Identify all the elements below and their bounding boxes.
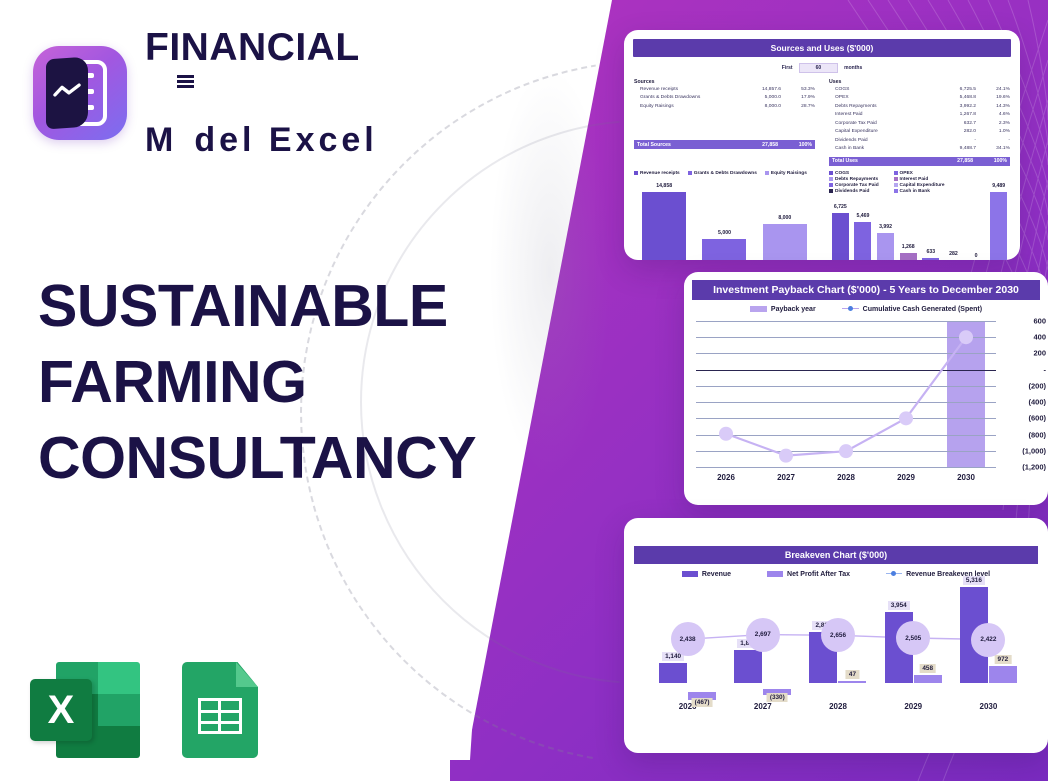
net-profit-value: 458 xyxy=(919,664,936,673)
revenue-value: 3,954 xyxy=(888,601,910,610)
financial-model-logo-icon xyxy=(33,46,127,140)
payback-x-axis: 20262027202820292030 xyxy=(696,473,996,482)
bar: 5,000 xyxy=(702,239,746,260)
breakeven-plot: 1,140(467)2,4381,848(330)2,6972,814472,6… xyxy=(650,584,1026,694)
net-profit-bar: (330) xyxy=(763,689,791,695)
poster-canvas: FINANCIAL Mdel Excel SUSTAINABLE FARMING… xyxy=(0,0,1048,781)
brand-line-2-post: del Excel xyxy=(194,121,377,159)
row-label: Debts Repayments xyxy=(829,103,934,111)
sources-bar-chart: Revenue receiptsGrants & Debts Drawdowns… xyxy=(634,171,815,261)
payback-title: Investment Payback Chart ($'000) - 5 Yea… xyxy=(692,280,1040,300)
bar-label: 14,858 xyxy=(656,183,672,189)
bar: 6,725 xyxy=(832,213,849,260)
page-title: SUSTAINABLE FARMING CONSULTANCY xyxy=(38,268,476,496)
gridline xyxy=(696,467,996,468)
y-tick-label: 400 xyxy=(1033,333,1046,342)
total-pct: 100% xyxy=(973,158,1010,164)
table-row: Equity Raisings 8,000.0 28.7% xyxy=(634,103,815,111)
brand-logo: FINANCIAL Mdel Excel xyxy=(33,28,378,157)
breakeven-node: 2,505 xyxy=(896,621,930,655)
bar: 9,489 xyxy=(990,192,1007,260)
bar-label: 1,268 xyxy=(902,244,915,250)
breakeven-node: 2,422 xyxy=(971,623,1005,657)
bar-label: 8,000 xyxy=(778,215,791,221)
uses-bar-chart: COGSOPEXDebts RepaymentsInterest PaidCor… xyxy=(829,171,1010,261)
months-suffix-label: months xyxy=(844,65,862,71)
uses-total-row: Total Uses 27,858 100% xyxy=(829,157,1010,166)
brand-line-2-pre: M xyxy=(145,121,177,159)
bar: 14,858 xyxy=(642,192,686,260)
bar-label: 633 xyxy=(926,249,935,255)
net-profit-bar: (467) xyxy=(688,692,716,700)
row-value: 1,267.8 xyxy=(934,111,976,119)
legend-item-cumulative-cash: Cumulative Cash Generated (Spent) xyxy=(842,306,982,313)
net-profit-bar: 47 xyxy=(838,681,866,683)
row-label: Corporate Tax Paid xyxy=(829,120,934,128)
row-label: Equity Raisings xyxy=(634,103,739,111)
row-pct: 17.9% xyxy=(781,94,815,102)
headline-line-3: CONSULTANCY xyxy=(38,420,476,496)
breakeven-panel: Breakeven Chart ($'000) Revenue Net Prof… xyxy=(624,518,1048,753)
table-row: Dividends Paid - - xyxy=(829,137,1010,145)
sources-header: Sources xyxy=(634,79,815,85)
row-label: Dividends Paid xyxy=(829,137,934,145)
x-tick-label: 2030 xyxy=(951,702,1026,711)
y-tick-label: (1,200) xyxy=(1022,463,1046,472)
y-tick-label: (1,000) xyxy=(1022,446,1046,455)
payback-line-series xyxy=(696,321,996,467)
row-label: Revenue receipts xyxy=(634,86,739,94)
sources-and-uses-panel: Sources and Uses ($'000) First 60 months… xyxy=(624,30,1020,260)
y-tick-label: 600 xyxy=(1033,317,1046,326)
table-row: Capital Expenditure 282.0 1.0% xyxy=(829,128,1010,136)
x-tick-label: 2028 xyxy=(800,702,875,711)
sources-uses-title: Sources and Uses ($'000) xyxy=(633,39,1011,57)
legend-label: COGS xyxy=(835,171,849,176)
legend-item: COGS xyxy=(829,171,888,176)
legend-label: Debts Repayments xyxy=(835,177,878,182)
y-tick-label: (600) xyxy=(1028,414,1046,423)
legend-label: OPEX xyxy=(900,171,913,176)
revenue-bar: 1,848 xyxy=(734,650,762,683)
uses-header: Uses xyxy=(829,79,1010,85)
payback-legend: Payback year Cumulative Cash Generated (… xyxy=(684,306,1048,313)
brand-line-1: FINANCIAL xyxy=(145,28,378,67)
legend-item: OPEX xyxy=(894,171,953,176)
bar-label: 3,992 xyxy=(879,224,892,230)
net-profit-bar: 458 xyxy=(914,675,942,683)
table-row: COGS 6,725.5 24.1% xyxy=(829,86,1010,94)
row-value: 5,000.0 xyxy=(739,94,781,102)
row-pct: 1.0% xyxy=(976,128,1010,136)
sources-bars: 14,8585,0008,000 xyxy=(634,183,815,261)
uses-table: Uses COGS 6,725.5 24.1% OPEX 5,468.8 19.… xyxy=(829,79,1010,166)
x-tick-label: 2029 xyxy=(876,702,951,711)
y-tick-label: 200 xyxy=(1033,349,1046,358)
breakeven-title: Breakeven Chart ($'000) xyxy=(634,546,1038,564)
sources-total-row: Total Sources 27,858 100% xyxy=(634,140,815,149)
row-pct: 2.3% xyxy=(976,120,1010,128)
brand-line-2: Mdel Excel xyxy=(145,73,378,157)
sources-table: Sources Revenue receipts 14,857.6 53.3% … xyxy=(634,79,815,166)
legend-item: Grants & Debts Drawdowns xyxy=(688,171,757,176)
revenue-value: 5,316 xyxy=(963,576,985,585)
row-pct: 34.1% xyxy=(976,145,1010,153)
excel-x-glyph: X xyxy=(30,679,92,741)
x-tick-label: 2027 xyxy=(725,702,800,711)
legend-label: Payback year xyxy=(771,306,816,313)
headline-line-1: SUSTAINABLE xyxy=(38,268,476,344)
uses-bars: 6,7255,4693,9921,26863328209,489 xyxy=(829,183,1010,261)
legend-label: Net Profit After Tax xyxy=(787,571,850,578)
row-label: Interest Paid xyxy=(829,111,934,119)
row-pct: 19.6% xyxy=(976,94,1010,102)
total-pct: 100% xyxy=(778,142,815,148)
brand-wordmark: FINANCIAL Mdel Excel xyxy=(145,28,378,157)
legend-label: Revenue xyxy=(702,571,731,578)
google-sheets-icon xyxy=(182,662,258,758)
months-input[interactable]: 60 xyxy=(799,63,839,73)
bar-label: 5,469 xyxy=(856,213,869,219)
row-pct: 24.1% xyxy=(976,86,1010,94)
bar: 3,992 xyxy=(877,233,894,260)
breakeven-node: 2,656 xyxy=(821,618,855,652)
y-tick-label: (400) xyxy=(1028,398,1046,407)
row-value: 6,725.5 xyxy=(934,86,976,94)
row-value: 3,992.2 xyxy=(934,103,976,111)
row-label: OPEX xyxy=(829,94,934,102)
breakeven-node: 2,697 xyxy=(746,618,780,652)
row-pct: 14.3% xyxy=(976,103,1010,111)
row-value: 8,000.0 xyxy=(739,103,781,111)
row-label: COGS xyxy=(829,86,934,94)
compatibility-icons: X xyxy=(30,662,258,758)
legend-item: Revenue receipts xyxy=(634,171,680,176)
legend-label: Revenue receipts xyxy=(640,171,680,176)
brand-hamburger-icon xyxy=(177,73,194,153)
investment-payback-panel: Investment Payback Chart ($'000) - 5 Yea… xyxy=(684,272,1048,505)
total-label: Total Uses xyxy=(829,158,931,164)
net-profit-bar: 972 xyxy=(989,666,1017,684)
row-value: 14,857.6 xyxy=(739,86,781,94)
x-tick-label: 2027 xyxy=(756,473,816,482)
legend-item: Debts Repayments xyxy=(829,177,888,182)
row-value: - xyxy=(934,137,976,145)
y-tick-label: (200) xyxy=(1028,381,1046,390)
row-pct: - xyxy=(976,137,1010,145)
bar: 8,000 xyxy=(763,224,807,260)
legend-label: Cumulative Cash Generated (Spent) xyxy=(863,306,982,313)
bar: 1,268 xyxy=(900,253,917,260)
total-value: 27,858 xyxy=(931,158,973,164)
row-pct: 28.7% xyxy=(781,103,815,111)
legend-item-revenue: Revenue xyxy=(682,571,731,578)
total-label: Total Sources xyxy=(634,142,736,148)
table-row: Debts Repayments 3,992.2 14.3% xyxy=(829,103,1010,111)
legend-label: Grants & Debts Drawdowns xyxy=(694,171,757,176)
months-prefix-label: First xyxy=(782,65,793,71)
table-row: Revenue receipts 14,857.6 53.3% xyxy=(634,86,815,94)
net-profit-value: 47 xyxy=(846,670,859,679)
microsoft-excel-icon: X xyxy=(30,662,140,758)
bar-label: 5,000 xyxy=(718,230,731,236)
payback-y-axis: 600400200-(200)(400)(600)(800)(1,000)(1,… xyxy=(998,321,1046,467)
legend-item: Equity Raisings xyxy=(765,171,807,176)
row-label: Capital Expenditure xyxy=(829,128,934,136)
headline-line-2: FARMING xyxy=(38,344,476,420)
bar-label: 9,489 xyxy=(992,183,1005,189)
table-row: Cash in Bank 9,488.7 34.1% xyxy=(829,145,1010,153)
bar-label: 0 xyxy=(975,253,978,259)
x-tick-label: 2028 xyxy=(816,473,876,482)
legend-item: Interest Paid xyxy=(894,177,953,182)
bar-label: 282 xyxy=(949,251,958,257)
table-row: OPEX 5,468.8 19.6% xyxy=(829,94,1010,102)
months-input-row: First 60 months xyxy=(624,63,1020,73)
x-tick-label: 2029 xyxy=(876,473,936,482)
y-tick-label: (800) xyxy=(1028,430,1046,439)
sources-legend: Revenue receiptsGrants & Debts Drawdowns… xyxy=(634,171,815,176)
row-label: Cash in Bank xyxy=(829,145,934,153)
bar-label: 6,725 xyxy=(834,204,847,210)
net-profit-value: 972 xyxy=(995,655,1012,664)
net-profit-value: (467) xyxy=(692,698,713,707)
table-row: Interest Paid 1,267.8 4.6% xyxy=(829,111,1010,119)
total-value: 27,858 xyxy=(736,142,778,148)
x-tick-label: 2026 xyxy=(650,702,725,711)
legend-label: Equity Raisings xyxy=(771,171,807,176)
net-profit-value: (330) xyxy=(767,693,788,702)
row-label: Grants & Debts Drawdowns xyxy=(634,94,739,102)
table-row: Corporate Tax Paid 632.7 2.3% xyxy=(829,120,1010,128)
row-value: 632.7 xyxy=(934,120,976,128)
legend-item-net-profit: Net Profit After Tax xyxy=(767,571,850,578)
legend-item-payback-year: Payback year xyxy=(750,306,816,313)
breakeven-node: 2,438 xyxy=(671,622,705,656)
y-tick-label: - xyxy=(1044,365,1047,374)
x-tick-label: 2026 xyxy=(696,473,756,482)
x-tick-label: 2030 xyxy=(936,473,996,482)
payback-plot: 600400200-(200)(400)(600)(800)(1,000)(1,… xyxy=(696,321,996,467)
table-row: Grants & Debts Drawdowns 5,000.0 17.9% xyxy=(634,94,815,102)
bar: 633 xyxy=(922,258,939,260)
row-value: 9,488.7 xyxy=(934,145,976,153)
row-pct: 53.3% xyxy=(781,86,815,94)
bar: 5,469 xyxy=(854,222,871,260)
legend-label: Interest Paid xyxy=(900,177,929,182)
row-pct: 4.6% xyxy=(976,111,1010,119)
row-value: 282.0 xyxy=(934,128,976,136)
row-value: 5,468.8 xyxy=(934,94,976,102)
revenue-bar: 1,140 xyxy=(659,663,687,684)
